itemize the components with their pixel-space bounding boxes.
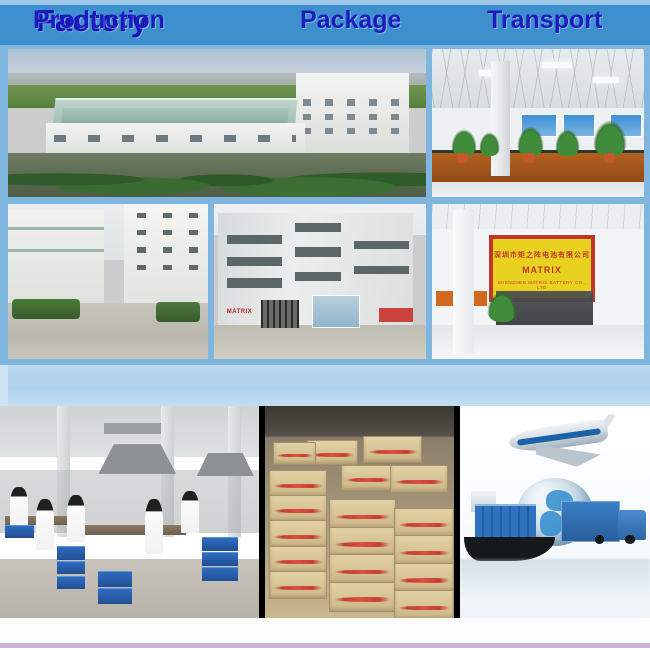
section-label-transport: Transport (487, 4, 602, 36)
potted-plant (487, 291, 517, 322)
right-building (124, 204, 208, 313)
carton (269, 571, 328, 598)
office-tower (296, 73, 409, 162)
lobby-sign-english: SHENZHEN MATRIX BATTERY CO., LTD (493, 280, 591, 290)
potted-plant (555, 129, 580, 156)
carton (269, 546, 328, 573)
window-band (354, 266, 409, 274)
potted-plant (517, 126, 545, 156)
carton (390, 465, 449, 492)
carton (329, 582, 395, 612)
hedge (156, 302, 200, 322)
carton (394, 590, 454, 618)
plant-pot (523, 153, 534, 163)
photo-production-line[interactable] (0, 406, 259, 618)
potted-plant (479, 132, 500, 156)
blue-crate (202, 537, 238, 551)
lobby-sign-logo: MATRIX (493, 265, 591, 275)
window-band (354, 241, 409, 249)
carton (329, 527, 395, 557)
worker (145, 499, 163, 554)
photo-packaged-cartons[interactable] (259, 406, 460, 618)
photo-shipping-logistics[interactable] (460, 406, 650, 618)
red-wall-sign (379, 308, 413, 322)
worker (36, 499, 54, 550)
worker (10, 487, 28, 529)
carton (329, 499, 395, 529)
company-facade-sign: MATRIX (227, 305, 269, 319)
left-building (8, 210, 104, 306)
blue-crate (5, 525, 33, 539)
section-label-band (0, 365, 650, 406)
section-label-package: Package (300, 4, 401, 36)
worker (67, 495, 85, 542)
hedge (12, 299, 80, 319)
carton (269, 520, 328, 547)
window-band (227, 235, 282, 244)
ceiling-light (542, 62, 572, 68)
carton (269, 470, 328, 497)
tree-line (8, 153, 426, 197)
plant-pot (457, 153, 468, 163)
window-band (295, 272, 342, 281)
carton (363, 436, 422, 463)
carton (273, 442, 317, 465)
window-band (295, 223, 342, 232)
plant-pot (604, 153, 615, 163)
potted-plant (593, 120, 627, 156)
carton (269, 495, 328, 522)
blue-crate (57, 576, 85, 590)
blue-crate (57, 561, 85, 575)
truck-trailer (561, 501, 620, 541)
pillar (491, 61, 510, 176)
truck-wheel (595, 535, 605, 543)
blue-crate (202, 567, 238, 581)
window-band (295, 247, 342, 256)
carton (394, 563, 454, 593)
carton (341, 465, 396, 490)
carton (329, 554, 395, 584)
lobby-sign-chinese: 深圳市矩之阵电池有限公司 (493, 250, 591, 260)
factory-window-row (54, 135, 296, 142)
pillar (453, 210, 474, 353)
blue-crate (98, 588, 132, 604)
floor (432, 182, 644, 197)
work-bench (78, 525, 187, 536)
photo-factory-yard[interactable] (8, 204, 208, 359)
blue-crate (98, 571, 132, 587)
glass-entry (312, 295, 361, 328)
shipping-containers (475, 504, 536, 542)
carton-stack-image (265, 406, 454, 618)
truck-wheel (625, 535, 635, 543)
exhaust-duct (104, 423, 161, 434)
potted-plant (451, 129, 476, 156)
photo-reception-lobby[interactable]: 深圳市矩之阵电池有限公司 MATRIX SHENZHEN MATRIX BATT… (432, 204, 644, 359)
photo-office-interior[interactable] (432, 49, 644, 197)
window-band (227, 257, 282, 266)
blue-crate (202, 552, 238, 566)
section-label-production: Production (33, 4, 165, 36)
floor-reflection (460, 559, 650, 601)
worker (181, 491, 199, 533)
factory-showcase-page: Factory (0, 0, 650, 650)
ground (214, 325, 426, 359)
band-left-edge (0, 365, 8, 406)
photo-aerial-factory-view[interactable] (8, 49, 426, 197)
window-band (227, 278, 282, 287)
footer-spacer (0, 618, 650, 644)
carton (394, 508, 454, 538)
ceiling-light (593, 77, 618, 83)
carton (394, 535, 454, 565)
blue-crate (57, 546, 85, 560)
photo-office-building[interactable]: MATRIX (214, 204, 426, 359)
